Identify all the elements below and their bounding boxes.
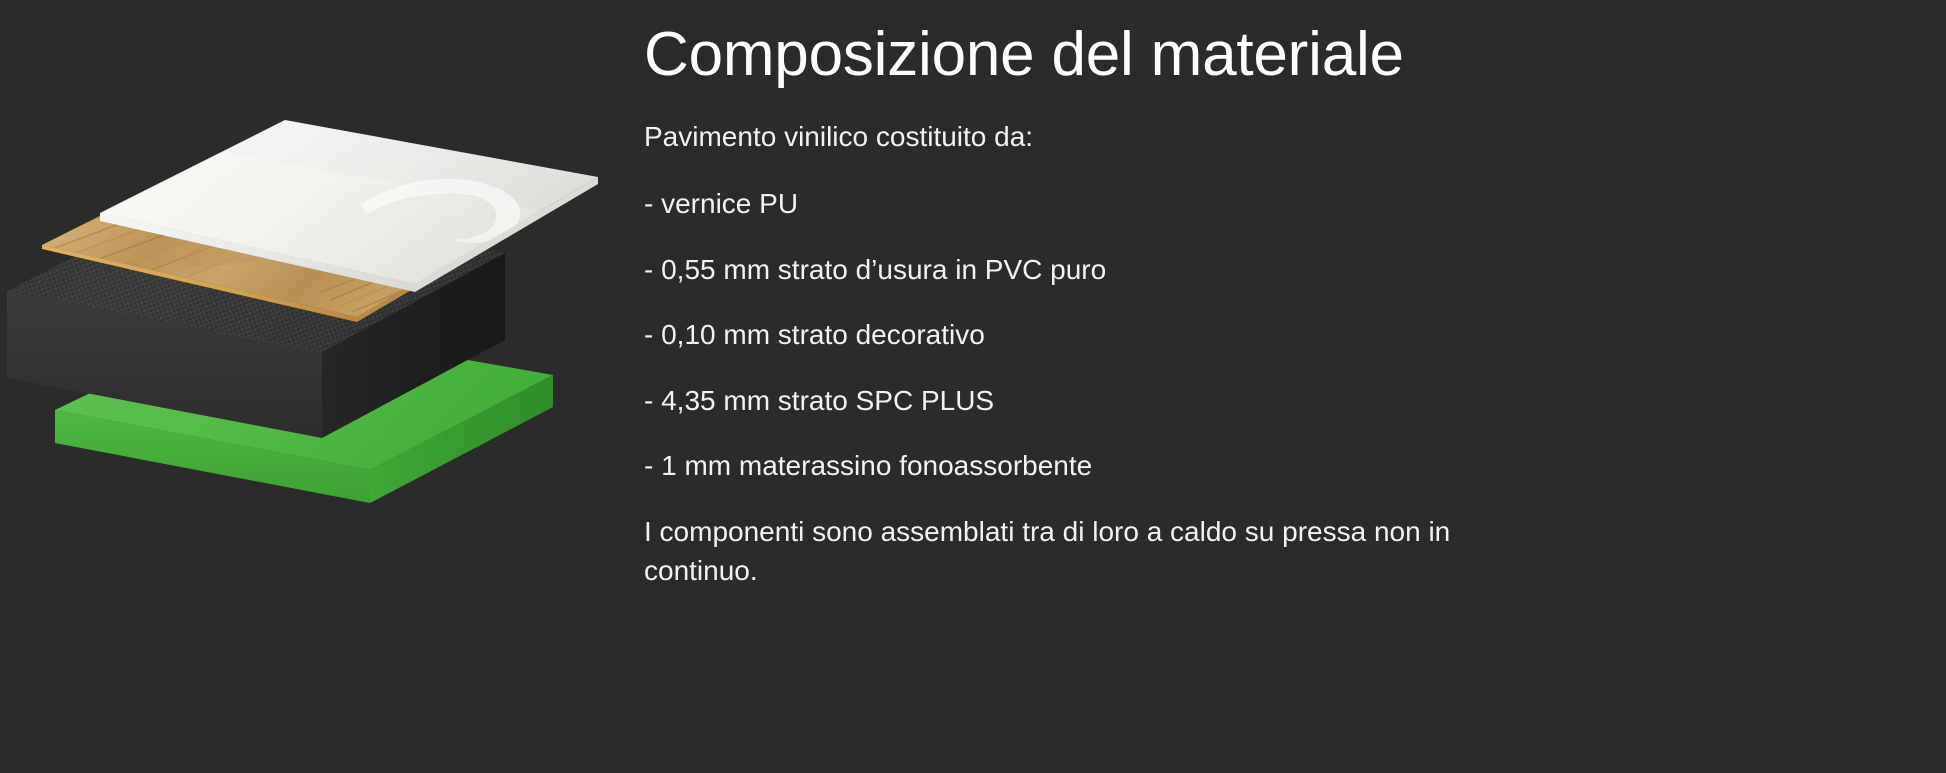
text-pane: Composizione del materiale Pavimento vin… — [640, 0, 1946, 773]
intro-text: Pavimento vinilico costituito da: — [644, 119, 1906, 155]
composition-item-vernice-pu: - vernice PU — [644, 186, 1906, 222]
exploded-layers-svg — [0, 0, 640, 773]
closing-text: I componenti sono assemblati tra di loro… — [644, 513, 1524, 590]
composition-item-strato-decorativo: - 0,10 mm strato decorativo — [644, 317, 1906, 353]
composition-item-spc-plus: - 4,35 mm strato SPC PLUS — [644, 383, 1906, 419]
composition-item-materassino: - 1 mm materassino fonoassorbente — [644, 448, 1906, 484]
illustration-pane — [0, 0, 640, 773]
page-title: Composizione del materiale — [644, 22, 1906, 89]
composition-item-strato-usura: - 0,55 mm strato d’usura in PVC puro — [644, 252, 1906, 288]
exploded-layer-diagram — [0, 0, 640, 773]
material-composition-slide: Composizione del materiale Pavimento vin… — [0, 0, 1946, 773]
